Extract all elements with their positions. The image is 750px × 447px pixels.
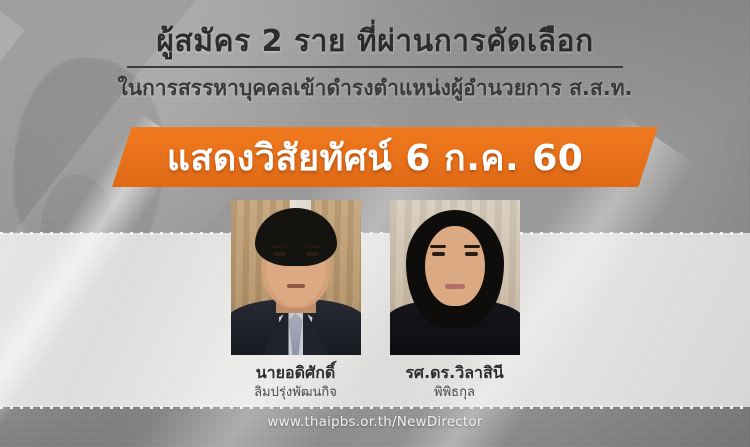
photo-face [425, 226, 485, 306]
footer-website-url[interactable]: www.thaipbs.or.th/NewDirector [0, 414, 750, 430]
dotted-divider-bottom [0, 406, 750, 409]
headline-block: ผู้สมัคร 2 ราย ที่ผ่านการคัดเลือก ในการส… [0, 22, 750, 102]
photo-eye-left [432, 252, 445, 256]
photo-eyebrow-left [430, 245, 446, 248]
photo-eyebrow-right [464, 245, 480, 248]
photo-mouth [287, 284, 305, 288]
candidate-list: นายอดิศักดิ์ ลิมปรุ่งพัฒนกิจ รศ.ดร.วิลาส… [0, 200, 750, 401]
candidate-photo [390, 200, 520, 355]
candidate-card[interactable]: นายอดิศักดิ์ ลิมปรุ่งพัฒนกิจ [231, 200, 361, 401]
photo-eye-left [273, 252, 286, 256]
candidate-name: นายอดิศักดิ์ [231, 363, 361, 383]
candidate-surname: พิพิธกุล [390, 384, 520, 401]
candidate-name: รศ.ดร.วิลาสินี [390, 363, 520, 383]
candidate-photo [231, 200, 361, 355]
headline-primary: ผู้สมัคร 2 ราย ที่ผ่านการคัดเลือก [0, 22, 750, 62]
headline-divider-rule [127, 66, 623, 68]
photo-eye-right [306, 252, 319, 256]
candidate-surname: ลิมปรุ่งพัฒนกิจ [231, 384, 361, 401]
photo-eye-right [465, 252, 478, 256]
photo-eyebrow-right [305, 245, 321, 248]
ribbon-banner [112, 127, 658, 187]
headline-secondary: ในการสรรหาบุคคลเข้าดำรงตำแหน่งผู้อำนวยกา… [0, 74, 750, 102]
candidate-card[interactable]: รศ.ดร.วิลาสินี พิพิธกุล [390, 200, 520, 401]
photo-mouth [445, 284, 465, 289]
photo-eyebrow-left [271, 245, 287, 248]
poster-canvas: ผู้สมัคร 2 ราย ที่ผ่านการคัดเลือก ในการส… [0, 0, 750, 447]
